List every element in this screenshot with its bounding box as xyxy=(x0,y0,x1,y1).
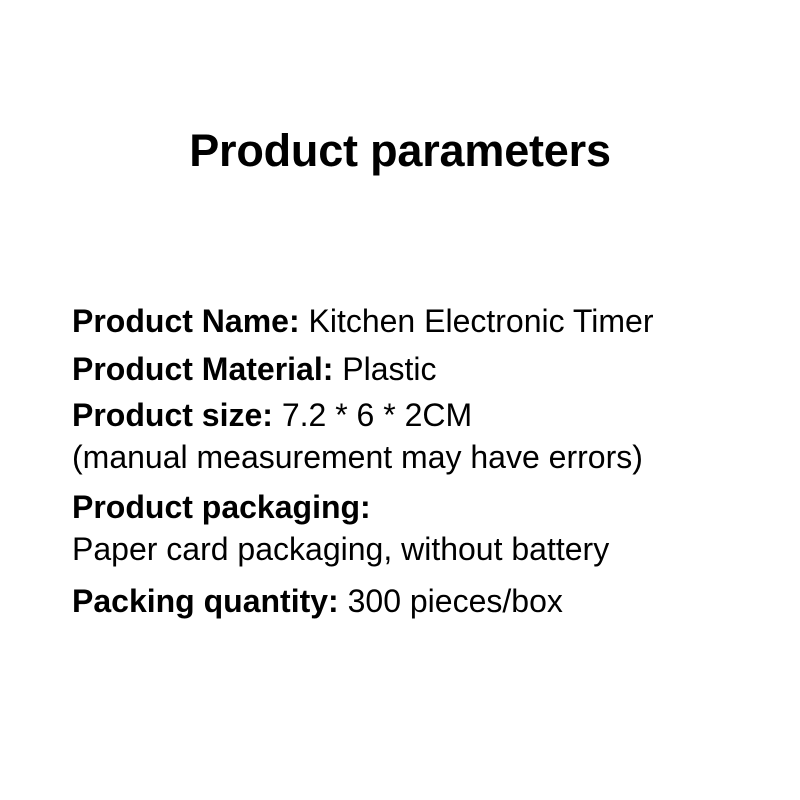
spec-value-product-name: Kitchen Electronic Timer xyxy=(308,303,653,339)
spec-label-product-size: Product size: xyxy=(72,397,273,433)
spec-label-product-name: Product Name: xyxy=(72,303,300,339)
spec-label-product-material: Product Material: xyxy=(72,351,333,387)
spec-row-product-packaging: Product packaging: Paper card packaging,… xyxy=(72,485,772,569)
spec-list: Product Name: Kitchen Electronic Timer P… xyxy=(72,297,772,625)
spec-value-product-size: 7.2 * 6 * 2CM xyxy=(282,397,472,433)
spec-label-packing-quantity: Packing quantity: xyxy=(72,583,339,619)
spec-value-product-packaging: Paper card packaging, without battery xyxy=(72,529,772,569)
spec-row-product-material: Product Material: Plastic xyxy=(72,345,772,393)
spec-value-product-material: Plastic xyxy=(342,351,436,387)
spec-value-packing-quantity: 300 pieces/box xyxy=(348,583,563,619)
spec-row-packing-quantity: Packing quantity: 300 pieces/box xyxy=(72,577,772,625)
spec-note-product-size: (manual measurement may have errors) xyxy=(72,437,772,477)
spec-row-product-size: Product size: 7.2 * 6 * 2CM (manual meas… xyxy=(72,393,772,477)
spec-row-product-name: Product Name: Kitchen Electronic Timer xyxy=(72,297,772,345)
page-title: Product parameters xyxy=(0,126,800,176)
product-parameters-sheet: Product parameters Product Name: Kitchen… xyxy=(0,0,800,800)
spec-label-product-packaging: Product packaging: xyxy=(72,489,371,525)
